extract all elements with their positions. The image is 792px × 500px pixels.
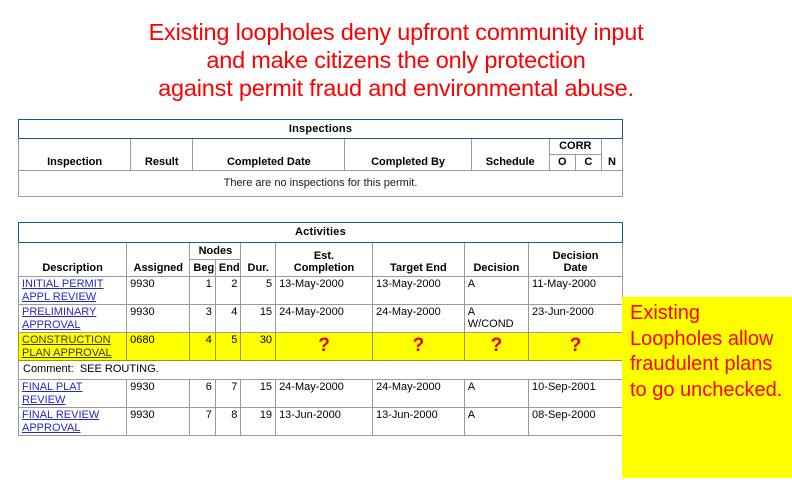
activity-decision: A	[464, 380, 528, 408]
activity-node-end: 5	[215, 333, 241, 361]
activities-header-group-row: Description Assigned Nodes Dur. Est. Com…	[19, 243, 623, 260]
activity-link-line2[interactable]: APPL REVIEW	[22, 291, 123, 304]
col-corr-group: CORR	[549, 139, 601, 155]
inspections-header-group-row: Inspection Result Completed Date Complet…	[19, 139, 623, 155]
activity-assigned: 9930	[127, 408, 190, 436]
activities-comment-row: Comment: SEE ROUTING.	[19, 361, 623, 380]
activity-decision-line1: A	[468, 278, 475, 290]
col-decision: Decision	[464, 243, 528, 277]
table-row: FINAL PLAT REVIEW 9930 6 7 15 24-May-200…	[19, 380, 623, 408]
annotation-callout: Existing Loopholes allow fraudulent plan…	[622, 297, 792, 478]
activities-title-row: Activities	[19, 223, 623, 243]
activity-link[interactable]: FINAL PLAT	[22, 381, 123, 394]
table-row: PRELIMINARY APPROVAL 9930 3 4 15 24-May-…	[19, 305, 623, 333]
activity-target-end: 13-May-2000	[372, 277, 464, 305]
activity-decision-date: 08-Sep-2000	[529, 408, 623, 436]
table-row: INITIAL PERMIT APPL REVIEW 9930 1 2 5 13…	[19, 277, 623, 305]
activity-decision: A	[464, 277, 528, 305]
col-inspection: Inspection	[19, 139, 131, 171]
activity-decision-date-unknown: ?	[529, 333, 623, 361]
activity-est-completion-unknown: ?	[276, 333, 373, 361]
col-corr-o: O	[549, 155, 575, 171]
activity-node-end: 8	[215, 408, 241, 436]
col-assigned: Assigned	[127, 243, 190, 277]
activity-decision: A W/COND	[464, 305, 528, 333]
activity-target-end: 24-May-2000	[372, 380, 464, 408]
inspections-title: Inspections	[19, 120, 623, 139]
activity-node-beg: 1	[190, 277, 216, 305]
activity-decision-line1: A	[468, 381, 475, 393]
activity-link-line2[interactable]: APPROVAL	[22, 422, 123, 435]
activity-node-end: 4	[215, 305, 241, 333]
activity-link[interactable]: CONSTRUCTION	[22, 334, 123, 347]
activity-duration: 19	[241, 408, 276, 436]
col-est-completion-line2: Completion	[294, 262, 355, 274]
activities-title: Activities	[19, 223, 623, 243]
col-est-completion: Est. Completion	[276, 243, 373, 277]
question-mark-icon: ?	[529, 336, 622, 355]
activity-est-completion: 13-Jun-2000	[276, 408, 373, 436]
activity-node-beg: 7	[190, 408, 216, 436]
activity-decision-line2: W/COND	[468, 318, 514, 330]
question-mark-icon: ?	[276, 336, 372, 355]
activity-target-end-unknown: ?	[372, 333, 464, 361]
activity-assigned: 9930	[127, 305, 190, 333]
activity-node-beg: 4	[190, 333, 216, 361]
headline-line-1: Existing loopholes deny upfront communit…	[0, 18, 792, 46]
activity-description-cell[interactable]: INITIAL PERMIT APPL REVIEW	[19, 277, 127, 305]
col-decision-date-line2: Date	[564, 262, 588, 274]
activity-est-completion: 13-May-2000	[276, 277, 373, 305]
table-row-highlighted: CONSTRUCTION PLAN APPROVAL 0680 4 5 30 ?…	[19, 333, 623, 361]
col-corr-c: C	[575, 155, 601, 171]
activity-link[interactable]: FINAL REVIEW	[22, 409, 123, 422]
activity-target-end: 24-May-2000	[372, 305, 464, 333]
col-duration: Dur.	[241, 243, 276, 277]
col-target-end: Target End	[372, 243, 464, 277]
activity-decision-date: 23-Jun-2000	[529, 305, 623, 333]
col-description: Description	[19, 243, 127, 277]
activity-duration: 15	[241, 305, 276, 333]
headline-line-3: against permit fraud and environmental a…	[0, 74, 792, 102]
activity-decision-line1: A	[468, 306, 475, 318]
activity-assigned: 0680	[127, 333, 190, 361]
question-mark-icon: ?	[465, 336, 528, 355]
activity-est-completion: 24-May-2000	[276, 305, 373, 333]
activity-description-cell[interactable]: CONSTRUCTION PLAN APPROVAL	[19, 333, 127, 361]
question-mark-icon: ?	[373, 336, 464, 355]
activity-link-line2[interactable]: APPROVAL	[22, 319, 123, 332]
inspections-title-row: Inspections	[19, 120, 623, 139]
col-decision-date-line1: Decision	[553, 250, 599, 262]
col-result: Result	[131, 139, 193, 171]
activities-table: Activities Description Assigned Nodes Du…	[18, 222, 623, 436]
activity-decision-date: 11-May-2000	[529, 277, 623, 305]
col-completed-by: Completed By	[345, 139, 471, 171]
col-node-beg: Beg	[190, 260, 216, 277]
activity-duration: 5	[241, 277, 276, 305]
table-row: FINAL REVIEW APPROVAL 9930 7 8 19 13-Jun…	[19, 408, 623, 436]
headline-banner: Existing loopholes deny upfront communit…	[0, 18, 792, 102]
inspections-empty-message: There are no inspections for this permit…	[19, 171, 623, 197]
activity-target-end: 13-Jun-2000	[372, 408, 464, 436]
col-corr-n: N	[601, 139, 622, 171]
activity-link[interactable]: PRELIMINARY	[22, 306, 123, 319]
col-est-completion-line1: Est.	[314, 250, 334, 262]
activity-description-cell[interactable]: FINAL PLAT REVIEW	[19, 380, 127, 408]
activity-description-cell[interactable]: FINAL REVIEW APPROVAL	[19, 408, 127, 436]
activity-duration: 15	[241, 380, 276, 408]
activity-decision-line1: A	[468, 409, 475, 421]
col-decision-date: Decision Date	[529, 243, 623, 277]
activity-link-line2[interactable]: PLAN APPROVAL	[22, 347, 123, 360]
activity-assigned: 9930	[127, 380, 190, 408]
activity-node-beg: 6	[190, 380, 216, 408]
inspections-table: Inspections Inspection Result Completed …	[18, 119, 623, 197]
activity-node-beg: 3	[190, 305, 216, 333]
activity-duration: 30	[241, 333, 276, 361]
activity-link-line2[interactable]: REVIEW	[22, 394, 123, 407]
activity-decision-unknown: ?	[464, 333, 528, 361]
col-completed-date: Completed Date	[193, 139, 345, 171]
activity-node-end: 2	[215, 277, 241, 305]
activity-decision-date: 10-Sep-2001	[529, 380, 623, 408]
inspections-empty-row: There are no inspections for this permit…	[19, 171, 623, 197]
activity-node-end: 7	[215, 380, 241, 408]
activity-est-completion: 24-May-2000	[276, 380, 373, 408]
activity-decision: A	[464, 408, 528, 436]
activity-description-cell[interactable]: PRELIMINARY APPROVAL	[19, 305, 127, 333]
activity-assigned: 9930	[127, 277, 190, 305]
headline-line-2: and make citizens the only protection	[0, 46, 792, 74]
activity-link[interactable]: INITIAL PERMIT	[22, 278, 123, 291]
activity-comment: Comment: SEE ROUTING.	[19, 361, 623, 380]
col-nodes-group: Nodes	[190, 243, 241, 260]
col-node-end: End	[215, 260, 241, 277]
col-schedule: Schedule	[471, 139, 549, 171]
